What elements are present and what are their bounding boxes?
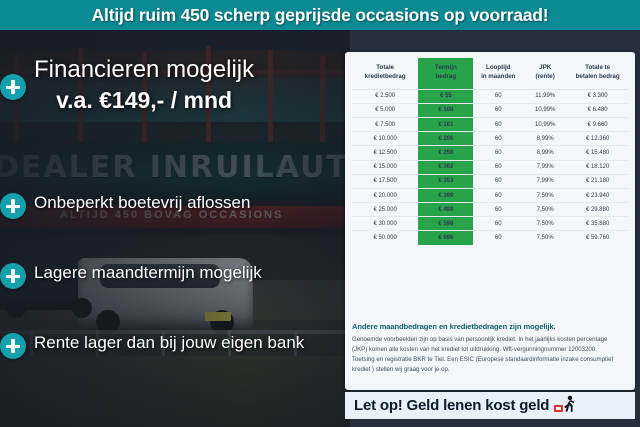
cell-termijnbedrag: € 206 [418, 132, 473, 146]
cell-termijnbedrag: € 108 [418, 103, 473, 117]
cell-jpk: 10,99% [523, 117, 567, 131]
cell-termijnbedrag: € 302 [418, 160, 473, 174]
cell-kredietbedrag: € 50.000 [352, 231, 418, 245]
rates-table-body: € 2.500€ 556011,99%€ 3.300€ 5.000€ 10860… [352, 89, 628, 245]
cell-totaalbedrag: € 23.940 [567, 188, 628, 202]
cell-jpk: 7,99% [523, 174, 567, 188]
table-row: € 20.000€ 399607,50%€ 23.940 [352, 188, 628, 202]
plus-icon [0, 263, 26, 289]
cell-termijnbedrag: € 55 [418, 89, 473, 103]
cell-termijnbedrag: € 598 [418, 217, 473, 231]
benefit-item-aflossen: Onbeperkt boetevrij aflossen [34, 193, 250, 213]
table-row: € 2.500€ 556011,99%€ 3.300 [352, 89, 628, 103]
cell-jpk: 10,99% [523, 103, 567, 117]
cell-totaalbedrag: € 6.480 [567, 103, 628, 117]
cell-looptijd: 60 [473, 146, 523, 160]
header-termijn-bedrag: Termijnbedrag [418, 58, 473, 89]
plus-icon [0, 333, 26, 359]
table-row: € 50.000€ 996607,50%€ 59.760 [352, 231, 628, 245]
plus-icon [0, 193, 26, 219]
cell-kredietbedrag: € 10.000 [352, 132, 418, 146]
rates-table: Totalekredietbedrag Termijnbedrag Loopti… [352, 58, 628, 245]
top-banner: Altijd ruim 450 scherp geprijsde occasio… [0, 0, 640, 30]
cell-totaalbedrag: € 29.880 [567, 203, 628, 217]
card-footer-body: Genoemde voorbeelden zijn op basis van p… [352, 335, 620, 374]
cell-totaalbedrag: € 15.480 [567, 146, 628, 160]
cell-termijnbedrag: € 353 [418, 174, 473, 188]
cell-termijnbedrag: € 996 [418, 231, 473, 245]
cell-kredietbedrag: € 20.000 [352, 188, 418, 202]
cell-termijnbedrag: € 258 [418, 146, 473, 160]
card-footer-title: Andere maandbedragen en kredietbedragen … [352, 322, 630, 331]
table-row: € 10.000€ 206608,99%€ 12.360 [352, 132, 628, 146]
table-header-row: Totalekredietbedrag Termijnbedrag Loopti… [352, 58, 628, 89]
top-banner-text: Altijd ruim 450 scherp geprijsde occasio… [92, 5, 549, 26]
cell-looptijd: 60 [473, 160, 523, 174]
warning-text: Let op! Geld lenen kost geld [354, 397, 549, 414]
plus-icon [0, 74, 26, 100]
header-totale-kredietbedrag: Totalekredietbedrag [352, 58, 418, 89]
cell-looptijd: 60 [473, 217, 523, 231]
cell-termijnbedrag: € 498 [418, 203, 473, 217]
table-row: € 5.000€ 1086010,99%€ 6.480 [352, 103, 628, 117]
cell-totaalbedrag: € 3.300 [567, 89, 628, 103]
cell-kredietbedrag: € 17.500 [352, 174, 418, 188]
cell-jpk: 8,99% [523, 146, 567, 160]
cell-totaalbedrag: € 12.360 [567, 132, 628, 146]
benefit-item-rente: Rente lager dan bij jouw eigen bank [34, 333, 304, 353]
benefits-list: Financieren mogelijk v.a. €149,- / mnd O… [0, 30, 350, 427]
cell-looptijd: 60 [473, 89, 523, 103]
cell-jpk: 7,50% [523, 203, 567, 217]
table-row: € 25.000€ 498607,50%€ 29.880 [352, 203, 628, 217]
table-row: € 7.500€ 1616010,99%€ 9.660 [352, 117, 628, 131]
cell-totaalbedrag: € 21.180 [567, 174, 628, 188]
cell-looptijd: 60 [473, 132, 523, 146]
cell-totaalbedrag: € 9.660 [567, 117, 628, 131]
cell-kredietbedrag: € 12.500 [352, 146, 418, 160]
card-footer: Andere maandbedragen en kredietbedragen … [352, 322, 630, 374]
benefit-financiering-line2: v.a. €149,- / mnd [34, 87, 254, 114]
cell-jpk: 7,99% [523, 160, 567, 174]
cell-looptijd: 60 [473, 188, 523, 202]
benefit-aflossen-label: Onbeperkt boetevrij aflossen [34, 193, 250, 213]
cell-looptijd: 60 [473, 103, 523, 117]
cell-termijnbedrag: € 161 [418, 117, 473, 131]
money-walking-away-icon [554, 396, 576, 415]
cell-jpk: 7,50% [523, 217, 567, 231]
cell-kredietbedrag: € 7.500 [352, 117, 418, 131]
header-totale-te-betalen: Totale tebetalen bedrag [567, 58, 628, 89]
cell-jpk: 7,50% [523, 188, 567, 202]
cell-totaalbedrag: € 59.760 [567, 231, 628, 245]
cell-looptijd: 60 [473, 203, 523, 217]
warning-bar: Let op! Geld lenen kost geld [345, 392, 635, 419]
cell-looptijd: 60 [473, 174, 523, 188]
cell-jpk: 7,50% [523, 231, 567, 245]
table-row: € 15.000€ 302607,99%€ 18.120 [352, 160, 628, 174]
cell-totaalbedrag: € 18.120 [567, 160, 628, 174]
benefit-item-maandtermijn: Lagere maandtermijn mogelijk [34, 263, 262, 283]
cell-looptijd: 60 [473, 231, 523, 245]
cell-kredietbedrag: € 15.000 [352, 160, 418, 174]
cell-kredietbedrag: € 30.000 [352, 217, 418, 231]
cell-termijnbedrag: € 399 [418, 188, 473, 202]
cell-kredietbedrag: € 2.500 [352, 89, 418, 103]
benefit-item-financiering: Financieren mogelijk v.a. €149,- / mnd [34, 56, 254, 114]
benefit-rente-label: Rente lager dan bij jouw eigen bank [34, 333, 304, 353]
cell-totaalbedrag: € 35.880 [567, 217, 628, 231]
benefit-maandtermijn-label: Lagere maandtermijn mogelijk [34, 263, 262, 283]
cell-kredietbedrag: € 25.000 [352, 203, 418, 217]
header-jpk: JPK(rente) [523, 58, 567, 89]
cell-jpk: 8,99% [523, 132, 567, 146]
table-row: € 30.000€ 598607,50%€ 35.880 [352, 217, 628, 231]
table-row: € 12.500€ 258608,99%€ 15.480 [352, 146, 628, 160]
header-looptijd: Looptijdin maanden [473, 58, 523, 89]
benefit-financiering-line1: Financieren mogelijk [34, 56, 254, 84]
cell-kredietbedrag: € 5.000 [352, 103, 418, 117]
cell-looptijd: 60 [473, 117, 523, 131]
cell-jpk: 11,99% [523, 89, 567, 103]
table-row: € 17.500€ 353607,99%€ 21.180 [352, 174, 628, 188]
